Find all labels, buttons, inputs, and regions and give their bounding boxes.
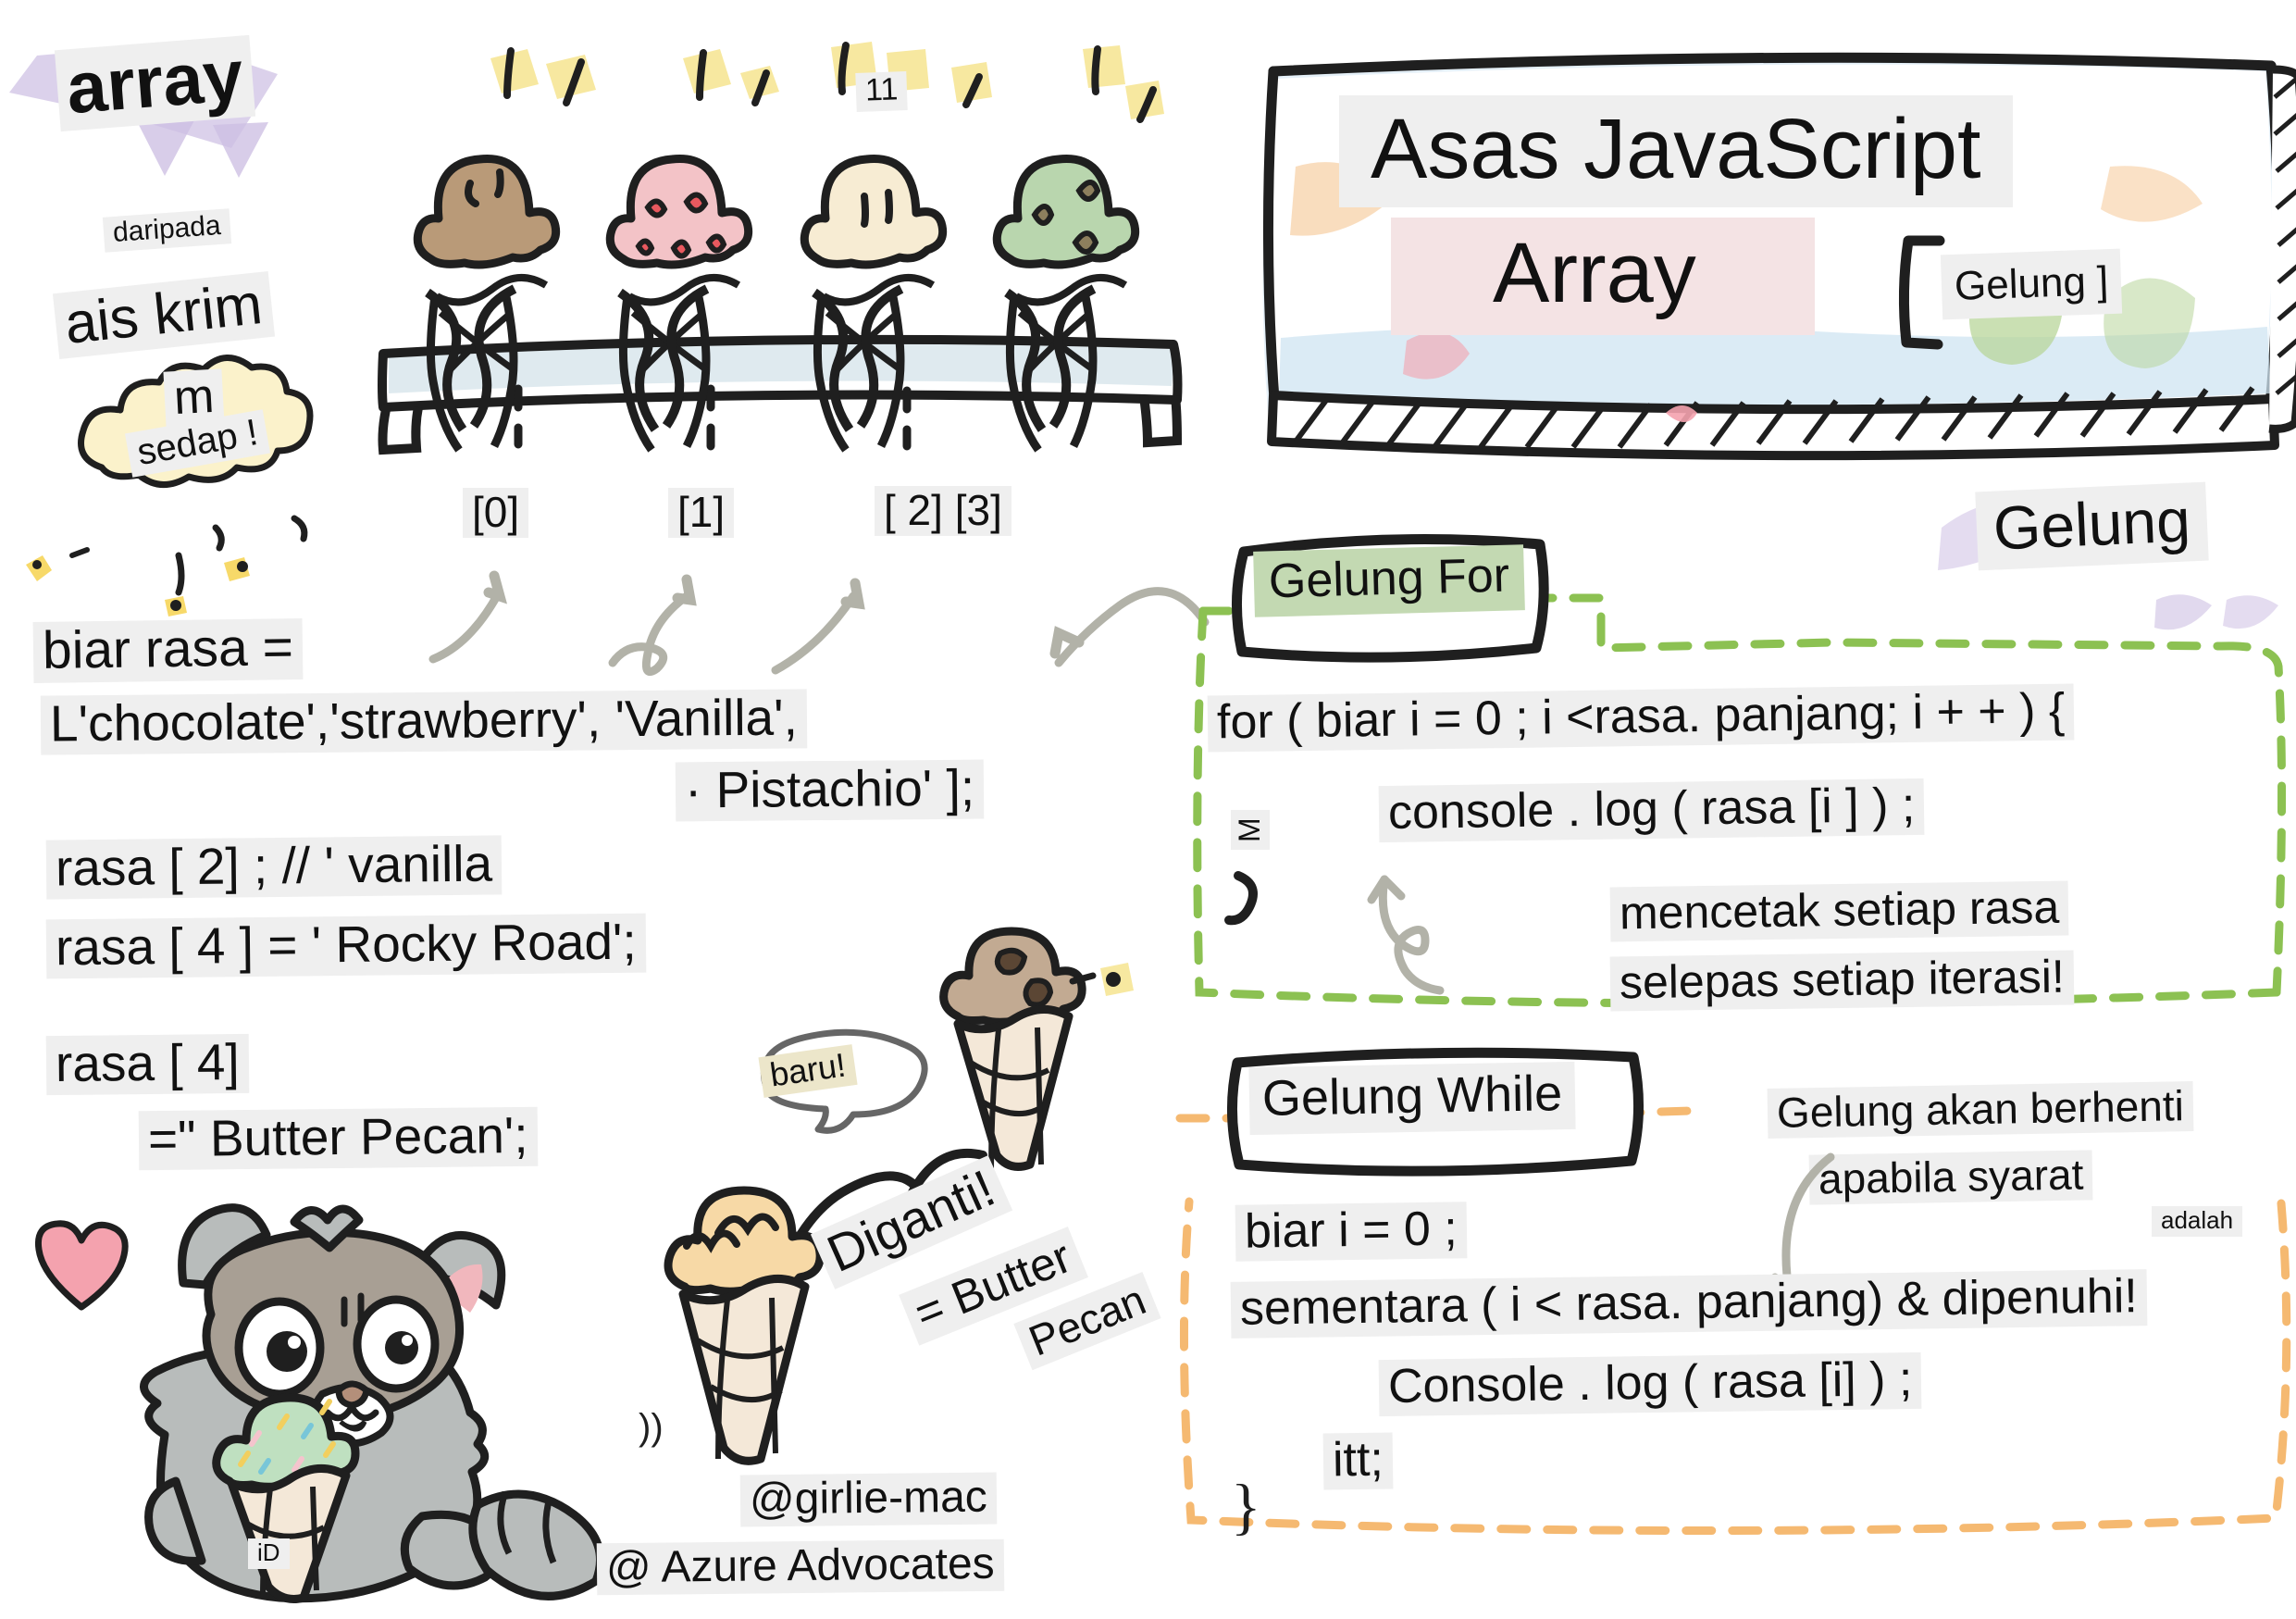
label-array: array: [55, 35, 255, 131]
for-loop-code-line-2: console . log ( rasa [i ] ) ;: [1379, 778, 1925, 842]
code-line-assign-rocky-road: rasa [ 4 ] = ' Rocky Road';: [46, 914, 646, 979]
infographic-canvas: array daripada ais krim m sedap !: [0, 0, 2296, 1619]
for-loop-curly-mark: [1223, 870, 1279, 935]
while-loop-code-line-1: biar i = 0 ;: [1235, 1202, 1468, 1261]
section-heading-gelung: Gelung: [1975, 482, 2208, 571]
ice-cream-row: [370, 111, 1203, 500]
for-loop-note-arrow: [1360, 861, 1545, 1009]
index-label-2-3: [ 2] [3]: [875, 486, 1011, 536]
code-line-butter-pecan: =" Butter Pecan';: [139, 1107, 538, 1170]
code-line-index-4: rasa [ 4]: [46, 1034, 249, 1095]
ice-cream-strawberry: [610, 158, 748, 450]
code-line-read-index-2: rasa [ 2] ; // ' vanilla: [46, 835, 503, 899]
for-loop-note-line-1: mencetak setiap rasa: [1610, 881, 2069, 941]
label-brace-mark: )): [639, 1407, 664, 1449]
while-loop-code-line-4: itt;: [1323, 1432, 1394, 1489]
watermark-id: iD: [248, 1538, 290, 1569]
title-line-2: Array: [1391, 218, 1815, 335]
title-line-1: Asas JavaScript: [1339, 95, 2013, 207]
for-loop-side-mark: M: [1231, 810, 1270, 850]
raccoon-mascot: [56, 1203, 629, 1619]
for-loop-note-line-2: selepas setiap iterasi!: [1610, 951, 2075, 1011]
label-daripada: daripada: [103, 208, 231, 252]
ice-cream-vanilla: [804, 158, 942, 450]
while-loop-badge: Gelung While: [1248, 1062, 1575, 1135]
sticker-11: 11: [855, 71, 908, 112]
code-line-declaration: biar rasa =: [33, 618, 304, 683]
while-loop-code-line-3: Console . log ( rasa [i] ) ;: [1379, 1352, 1922, 1416]
credit-org[interactable]: @ Azure Advocates: [597, 1539, 1004, 1596]
credit-handle[interactable]: @girlie-mac: [740, 1473, 997, 1527]
code-line-pistachio: · Pistachio' ];: [676, 760, 985, 822]
ice-cream-chocolate: [417, 158, 555, 450]
code-line-array-values: L'chocolate','strawberry', 'Vanilla',: [41, 689, 807, 754]
while-loop-note-line-3: adalah: [2152, 1206, 2242, 1237]
index-label-1: [1]: [668, 488, 734, 538]
while-loop-closing-brace: }: [1231, 1470, 1261, 1543]
title-loop-tag: Gelung ]: [1941, 249, 2123, 320]
while-loop-note-line-1: Gelung akan berhenti: [1768, 1081, 2194, 1139]
for-loop-badge: Gelung For: [1253, 544, 1525, 616]
index-label-0: [0]: [463, 488, 528, 538]
label-ais-krim: ais krim: [53, 271, 275, 359]
ice-cream-pistachio: [997, 158, 1135, 450]
